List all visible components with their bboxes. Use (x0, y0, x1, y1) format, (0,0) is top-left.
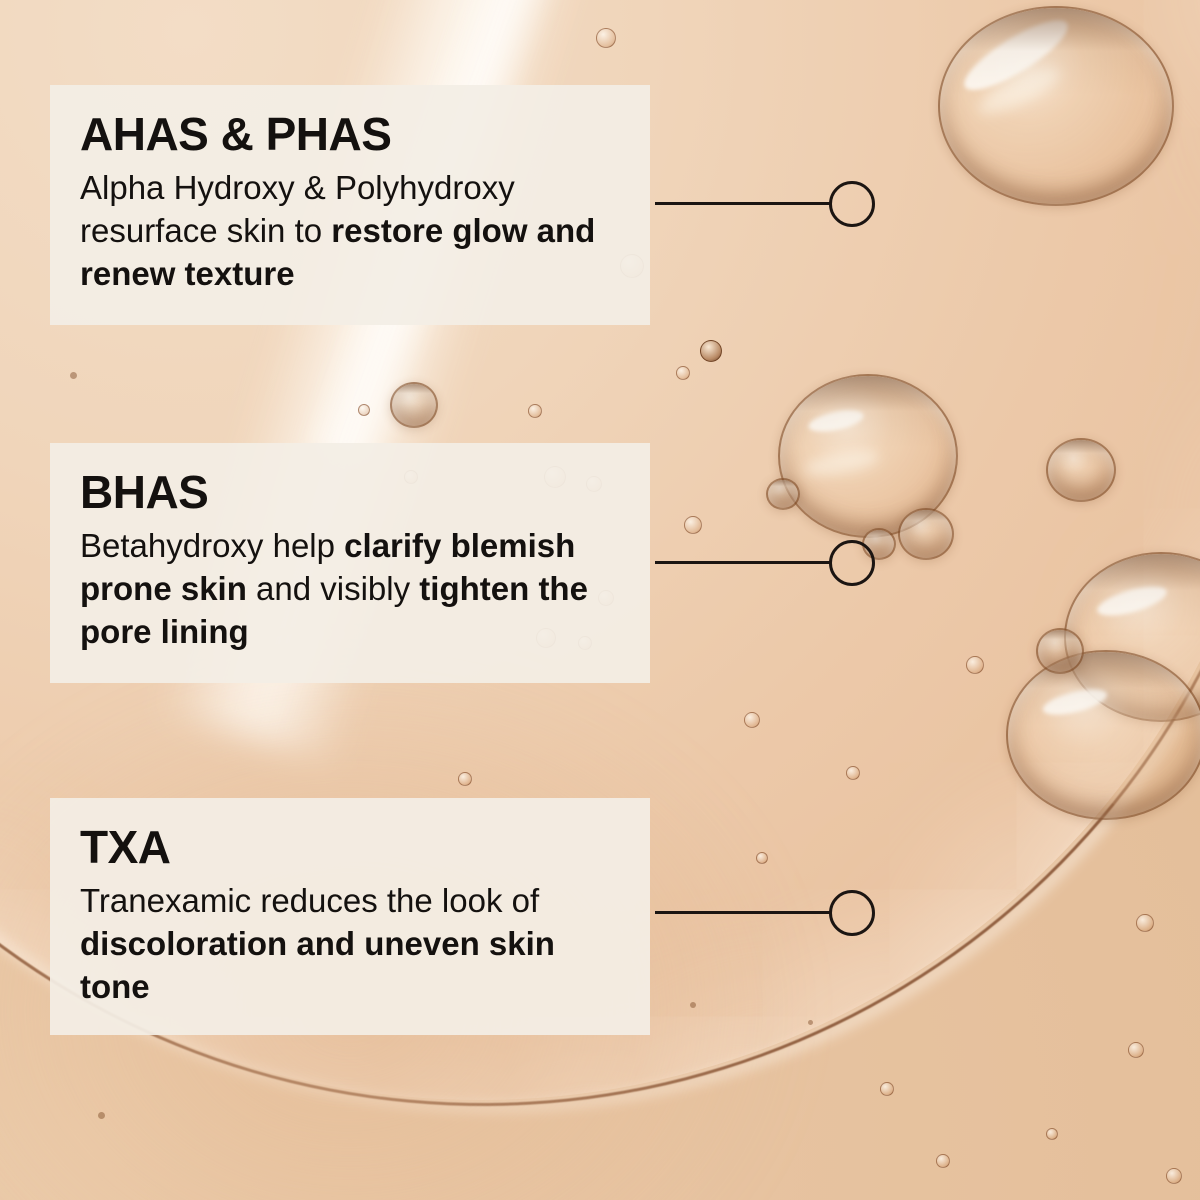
droplet-cluster-satellite-3 (766, 478, 800, 510)
micro-bubble (1166, 1168, 1182, 1184)
leader-line-bhas (655, 540, 891, 584)
micro-bubble (1128, 1042, 1144, 1058)
card-body-ahas-phas: Alpha Hydroxy & Polyhydroxy resurface sk… (80, 167, 620, 296)
droplet-large-top-right (938, 6, 1174, 206)
info-card-txa: TXA Tranexamic reduces the look of disco… (50, 798, 650, 1035)
micro-bubble (1046, 1128, 1058, 1140)
speck (690, 1002, 696, 1008)
micro-bubble (676, 366, 690, 380)
micro-bubble (700, 340, 722, 362)
infographic-canvas: AHAS & PHAS Alpha Hydroxy & Polyhydroxy … (0, 0, 1200, 1200)
droplet-small-right (1046, 438, 1116, 502)
droplet-bottom-right-tiny (1036, 628, 1084, 674)
micro-bubble (596, 28, 616, 48)
info-card-ahas-phas: AHAS & PHAS Alpha Hydroxy & Polyhydroxy … (50, 85, 650, 325)
leader-line-segment (655, 561, 831, 564)
info-card-bhas: BHAS Betahydroxy help clarify blemish pr… (50, 443, 650, 683)
leader-line-ahas-phas (655, 181, 891, 225)
speck (98, 1112, 105, 1119)
card-title-txa: TXA (80, 824, 620, 870)
micro-bubble (458, 772, 472, 786)
leader-line-segment (655, 911, 831, 914)
micro-bubble (528, 404, 542, 418)
micro-bubble (684, 516, 702, 534)
card-title-ahas-phas: AHAS & PHAS (80, 111, 620, 157)
leader-endpoint-circle (829, 890, 875, 936)
droplet-cluster-satellite-1 (898, 508, 954, 560)
card-body-bhas: Betahydroxy help clarify blemish prone s… (80, 525, 620, 654)
card-title-bhas: BHAS (80, 469, 620, 515)
micro-bubble (936, 1154, 950, 1168)
leader-endpoint-circle (829, 181, 875, 227)
leader-endpoint-circle (829, 540, 875, 586)
micro-bubble (756, 852, 768, 864)
micro-bubble (846, 766, 860, 780)
droplet-mid-left (390, 382, 438, 428)
micro-bubble (744, 712, 760, 728)
speck (808, 1020, 813, 1025)
leader-line-txa (655, 890, 891, 934)
micro-bubble (966, 656, 984, 674)
micro-bubble (880, 1082, 894, 1096)
speck (70, 372, 77, 379)
micro-bubble (1136, 914, 1154, 932)
leader-line-segment (655, 202, 831, 205)
card-body-txa: Tranexamic reduces the look of discolora… (80, 880, 620, 1009)
micro-bubble (358, 404, 370, 416)
droplet-bottom-right-lower (1006, 650, 1200, 820)
